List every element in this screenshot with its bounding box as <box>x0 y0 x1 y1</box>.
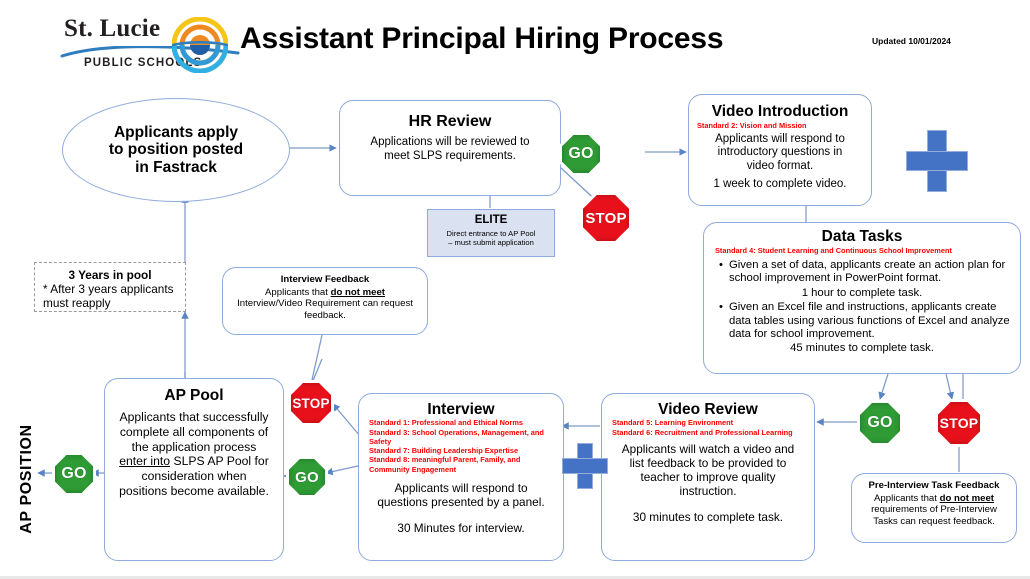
logo-text-st-lucie: St. Lucie <box>64 15 160 43</box>
updated-date: Updated 10/01/2024 <box>872 36 951 46</box>
three-years-title: 3 Years in pool <box>43 269 177 282</box>
video-intro-time: 1 week to complete video. <box>697 178 863 192</box>
ap-pool-title: AP Pool <box>113 387 275 404</box>
node-hr-review[interactable]: HR Review Applications will be reviewed … <box>339 100 561 196</box>
node-ap-pool[interactable]: AP Pool Applicants that successfully com… <box>104 378 284 561</box>
data-tasks-time-1: 1 hour to complete task. <box>713 287 1011 299</box>
data-tasks-title: Data Tasks <box>713 228 1011 245</box>
ap-position-side-label: AP POSITION <box>18 414 36 544</box>
apply-line-1: Applicants apply <box>109 124 243 141</box>
node-video-review[interactable]: Video Review Standard 5: Learning Enviro… <box>601 393 815 561</box>
go-sign-label: GO <box>568 145 593 163</box>
interview-time: 30 Minutes for interview. <box>367 521 555 535</box>
bullet-icon: • <box>719 259 723 286</box>
go-sign-label: GO <box>867 414 892 432</box>
interview-body: Applicants will respond to questions pre… <box>367 481 555 509</box>
interview-standard-2: Standard 3: School Operations, Managemen… <box>369 428 555 447</box>
go-sign-hr-review[interactable]: GO <box>559 132 603 176</box>
go-sign-interview[interactable]: GO <box>286 456 328 498</box>
go-sign-label: GO <box>61 465 86 483</box>
pre-interview-feedback-line2-bold: do not meet <box>940 493 994 504</box>
pre-interview-feedback-line2-pre: Applicants that <box>874 493 940 504</box>
elite-line-2: – must submit application <box>434 238 548 247</box>
interview-feedback-line3: Interview/Video Requirement can request … <box>231 298 419 321</box>
node-applicants-apply[interactable]: Applicants apply to position posted in F… <box>62 98 290 202</box>
page-title: Assistant Principal Hiring Process <box>240 22 723 56</box>
ap-pool-body-underline: enter into <box>119 454 170 468</box>
ap-pool-body-part-1: Applicants that successfully complete al… <box>119 410 268 453</box>
interview-standard-4: Standard 8: meaningful Parent, Family, a… <box>369 455 555 474</box>
node-data-tasks[interactable]: Data Tasks Standard 4: Student Learning … <box>703 222 1021 374</box>
go-sign-label: GO <box>295 469 319 486</box>
interview-feedback-line2-bold: do not meet <box>331 287 385 298</box>
video-intro-body: Applicants will respond to introductory … <box>697 133 863 174</box>
video-intro-standard: Standard 2: Vision and Mission <box>697 121 863 130</box>
diagram-canvas: St. Lucie PUBLIC SCHOOLS Assistant Princ… <box>0 0 1030 576</box>
node-elite[interactable]: ELITE Direct entrance to AP Pool – must … <box>427 209 555 257</box>
apply-line-3: in Fastrack <box>109 159 243 176</box>
interview-feedback-title: Interview Feedback <box>231 275 419 286</box>
data-tasks-bullet-1: Given a set of data, applicants create a… <box>729 259 1011 286</box>
stop-sign-hr-review[interactable]: STOP <box>580 192 632 244</box>
pre-interview-feedback-title: Pre-Interview Task Feedback <box>860 481 1008 492</box>
node-three-years-in-pool[interactable]: 3 Years in pool * After 3 years applican… <box>34 262 186 312</box>
data-tasks-bullet-2: Given an Excel file and instructions, ap… <box>729 301 1011 341</box>
interview-standard-3: Standard 7: Building Leadership Expertis… <box>369 446 555 455</box>
stop-sign-data-tasks[interactable]: STOP <box>935 399 983 447</box>
elite-line-1: Direct entrance to AP Pool <box>434 229 548 238</box>
go-sign-data-tasks[interactable]: GO <box>857 400 903 446</box>
bullet-icon: • <box>719 301 723 341</box>
elite-title: ELITE <box>434 214 548 227</box>
video-intro-title: Video Introduction <box>697 103 863 120</box>
stop-sign-label: STOP <box>940 415 979 431</box>
hr-review-title: HR Review <box>348 113 552 131</box>
node-interview-feedback[interactable]: Interview Feedback Applicants that do no… <box>222 267 428 335</box>
apply-line-2: to position posted <box>109 141 243 158</box>
video-review-time: 30 minutes to complete task. <box>610 510 806 524</box>
node-interview[interactable]: Interview Standard 1: Professional and E… <box>358 393 564 561</box>
interview-title: Interview <box>367 401 555 418</box>
plus-icon-interview-video-review <box>562 443 608 489</box>
stop-sign-label: STOP <box>585 210 626 227</box>
plus-icon-video-intro-data-tasks <box>906 130 968 192</box>
node-video-introduction[interactable]: Video Introduction Standard 2: Vision an… <box>688 94 872 206</box>
video-review-standard-1: Standard 5: Learning Environment <box>612 418 806 427</box>
interview-standard-1: Standard 1: Professional and Ethical Nor… <box>369 418 555 427</box>
stop-sign-interview[interactable]: STOP <box>288 380 334 426</box>
st-lucie-concentric-circles-logo-icon <box>172 17 228 73</box>
go-sign-ap-position[interactable]: GO <box>52 452 96 496</box>
video-review-standard-2: Standard 6: Recruitment and Professional… <box>612 428 806 437</box>
pre-interview-feedback-line3: requirements of Pre-Interview Tasks can … <box>860 504 1008 527</box>
three-years-body: * After 3 years applicants must reapply <box>43 282 177 310</box>
video-review-title: Video Review <box>610 401 806 418</box>
hr-review-body: Applications will be reviewed to meet SL… <box>348 136 552 164</box>
data-tasks-time-2: 45 minutes to complete task. <box>713 342 1011 354</box>
node-pre-interview-task-feedback[interactable]: Pre-Interview Task Feedback Applicants t… <box>851 473 1017 543</box>
video-review-body: Applicants will watch a video and list f… <box>610 442 806 499</box>
interview-feedback-line2-pre: Applicants that <box>265 287 331 298</box>
data-tasks-standard: Standard 4: Student Learning and Continu… <box>715 246 1011 255</box>
stop-sign-label: STOP <box>292 396 329 411</box>
